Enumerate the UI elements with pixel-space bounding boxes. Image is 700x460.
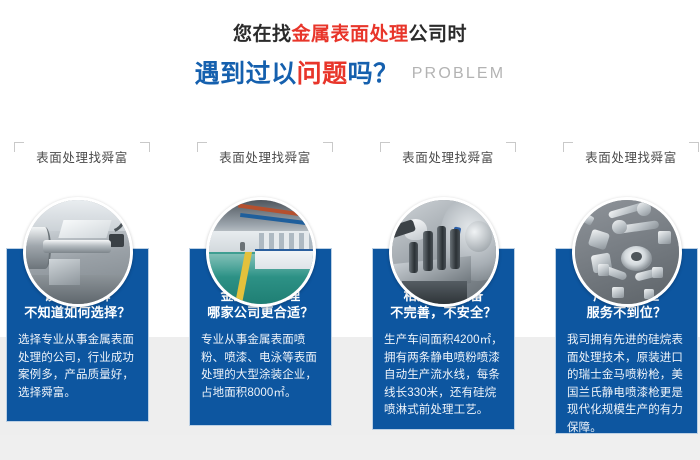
card-body-text: 生产车间面积4200㎡，拥有两条静电喷粉喷漆自动生产流水线，每条线长330米，还…	[384, 332, 503, 420]
metal-fasteners-bolts-nuts-photo	[575, 200, 679, 304]
card-photo-circle	[206, 197, 316, 307]
card-body-text: 选择专业从事金属表面处理的公司，行业成功案例多，产品质量好，选择舜富。	[18, 332, 137, 402]
tooling-fixture-parts-photo	[392, 200, 496, 304]
cnc-lathe-machining-photo	[26, 200, 130, 304]
card-photo-circle	[572, 197, 682, 307]
card-tag-badge: 表面处理找舜富	[563, 142, 699, 170]
card-tag-badge: 表面处理找舜富	[14, 142, 150, 170]
factory-workshop-corridor-photo	[209, 200, 313, 304]
problem-card[interactable]: 表面处理找舜富 产品质量差 服务不到位？ 我司拥有先进的硅烷表面处理技术，原装进…	[547, 0, 700, 460]
card-tag-label: 表面处理找舜富	[563, 142, 699, 170]
problem-card[interactable]: 表面处理找舜富 相关特种设备 不完善，不安全？ 生产车间面积4200㎡，拥有两条…	[364, 0, 540, 460]
card-body-text: 我司拥有先进的硅烷表面处理技术，原装进口的瑞士金马喷粉枪，美国兰氏静电喷漆枪更是…	[567, 332, 686, 437]
problem-card[interactable]: 表面处理找舜富 金属表面处理 哪家公司更合适？ 专业从事金属表面喷粉、喷漆、电泳…	[181, 0, 357, 460]
card-photo-circle	[389, 197, 499, 307]
card-tag-label: 表面处理找舜富	[197, 142, 333, 170]
problem-card[interactable]: 表面处理找舜富 设备不了解 不知道如何选择？ 选择专业从事金属表面处理的公司，行…	[0, 0, 174, 460]
card-tag-badge: 表面处理找舜富	[197, 142, 333, 170]
card-tag-badge: 表面处理找舜富	[380, 142, 516, 170]
card-tag-label: 表面处理找舜富	[14, 142, 150, 170]
problem-section: 您在找金属表面处理公司时 遇到过以问题吗？PROBLEM 表面处理找舜富 设备不…	[0, 0, 700, 460]
problem-card-list: 表面处理找舜富 设备不了解 不知道如何选择？ 选择专业从事金属表面处理的公司，行…	[0, 0, 700, 460]
card-photo-circle	[23, 197, 133, 307]
card-body-text: 专业从事金属表面喷粉、喷漆、电泳等表面处理的大型涂装企业，占地面积8000㎡。	[201, 332, 320, 402]
card-tag-label: 表面处理找舜富	[380, 142, 516, 170]
